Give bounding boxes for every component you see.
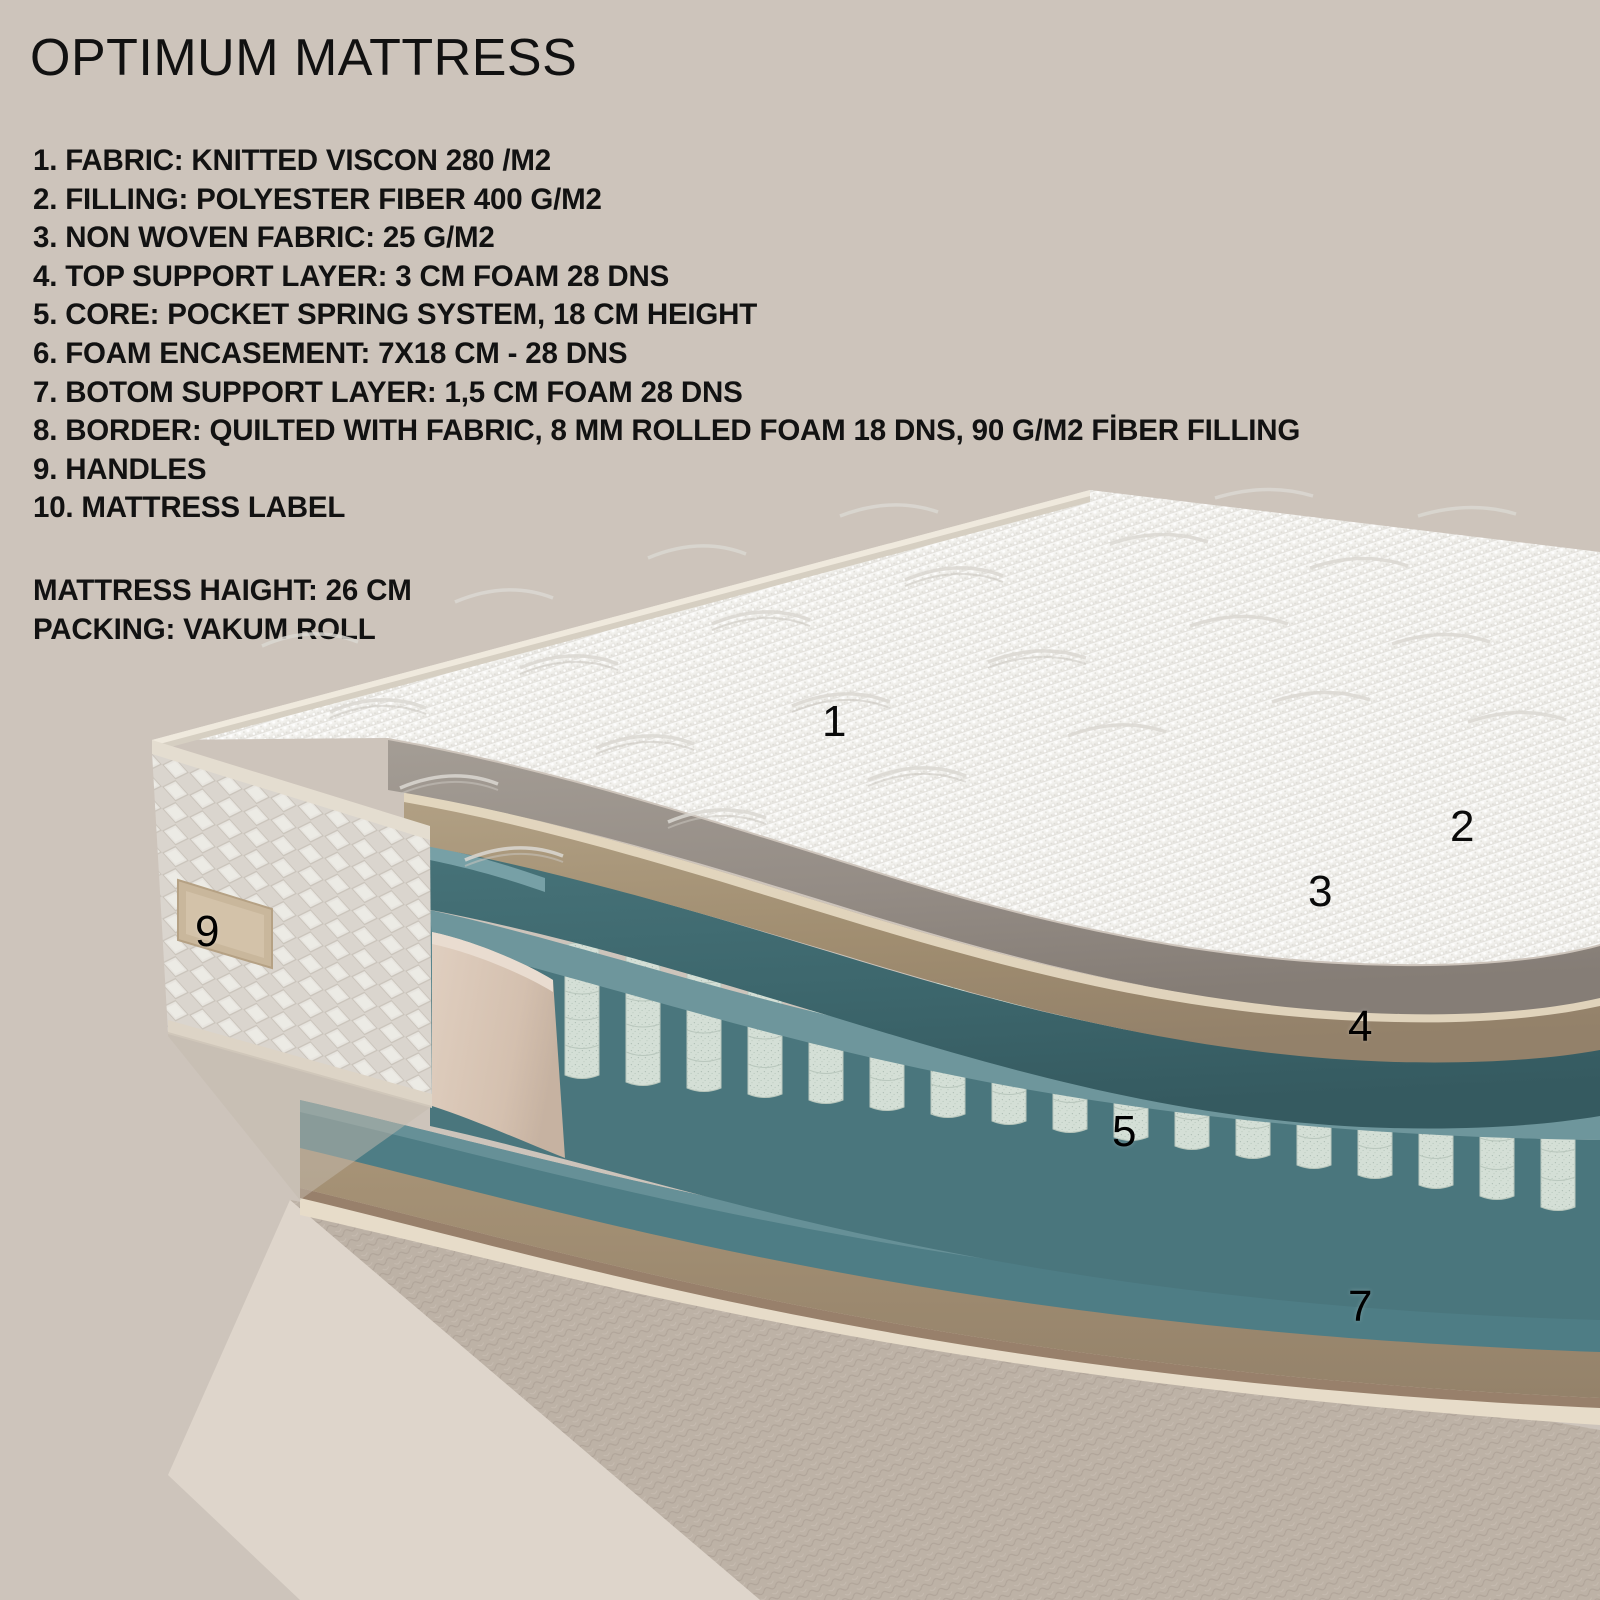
callout-5[interactable]: 5	[1112, 1110, 1136, 1154]
callout-2[interactable]: 2	[1450, 805, 1474, 849]
spec-line-1: 1. FABRIC: KNITTED VISCON 280 /M2	[33, 142, 1383, 181]
callout-3[interactable]: 3	[1308, 870, 1332, 914]
callout-1[interactable]: 1	[822, 700, 846, 744]
spec-line-4: 4. TOP SUPPORT LAYER: 3 CM FOAM 28 DNS	[33, 258, 1383, 297]
callout-7[interactable]: 7	[1348, 1285, 1372, 1329]
spec-line-3: 3. NON WOVEN FABRIC: 25 G/M2	[33, 219, 1383, 258]
page-title: OPTIMUM MATTRESS	[30, 28, 577, 88]
spec-line-5: 5. CORE: POCKET SPRING SYSTEM, 18 CM HEI…	[33, 296, 1383, 335]
mattress-spec-page: OPTIMUM MATTRESS 1. FABRIC: KNITTED VISC…	[0, 0, 1600, 1600]
callout-9[interactable]: 9	[195, 910, 219, 954]
spec-line-6: 6. FOAM ENCASEMENT: 7X18 CM - 28 DNS	[33, 335, 1383, 374]
callout-4[interactable]: 4	[1348, 1005, 1372, 1049]
spec-line-2: 2. FILLING: POLYESTER FIBER 400 G/M2	[33, 181, 1383, 220]
spec-line-7: 7. BOTOM SUPPORT LAYER: 1,5 CM FOAM 28 D…	[33, 374, 1383, 413]
